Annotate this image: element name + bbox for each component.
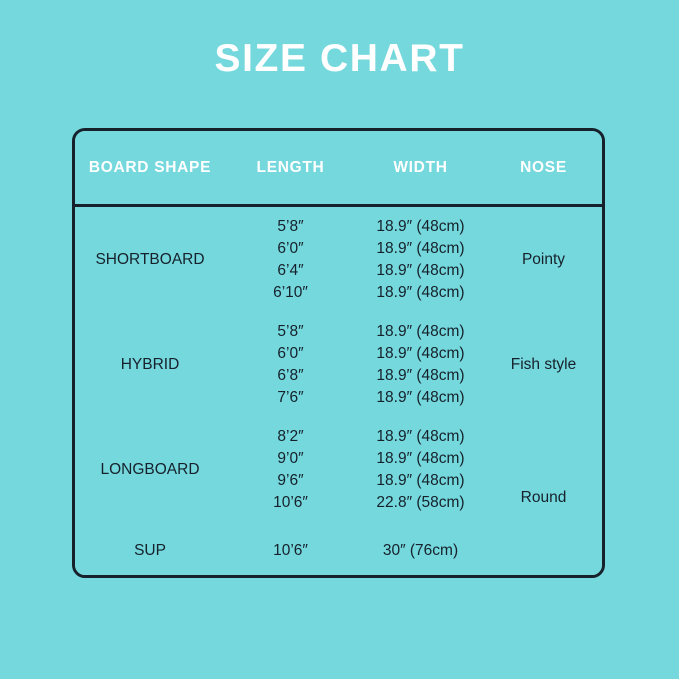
cell-board-shape: HYBRID (75, 312, 225, 417)
table-header-row: BOARD SHAPE LENGTH WIDTH NOSE (75, 131, 602, 206)
column-header-board-shape: BOARD SHAPE (75, 131, 225, 206)
cell-board-shape: SHORTBOARD (75, 206, 225, 313)
length-value: 10’6″ (225, 492, 356, 514)
width-value: 18.9″ (48cm) (356, 343, 485, 365)
cell-width: 18.9″ (48cm) 18.9″ (48cm) 18.9″ (48cm) 1… (356, 312, 485, 417)
width-value: 18.9″ (48cm) (356, 260, 485, 282)
cell-length: 5’8″ 6’0″ 6’8″ 7’6″ (225, 312, 356, 417)
cell-width: 18.9″ (48cm) 18.9″ (48cm) 18.9″ (48cm) 1… (356, 206, 485, 313)
length-value: 6’4″ (225, 260, 356, 282)
length-value: 6’0″ (225, 238, 356, 260)
cell-nose: Pointy (485, 206, 602, 313)
cell-width: 18.9″ (48cm) 18.9″ (48cm) 18.9″ (48cm) 2… (356, 417, 485, 522)
length-value: 7’6″ (225, 387, 356, 409)
width-value: 18.9″ (48cm) (356, 216, 485, 238)
size-chart-page: SIZE CHART BOARD SHAPE LENGTH WIDTH NOSE (0, 0, 679, 679)
table-row: SHORTBOARD 5’8″ 6’0″ 6’4″ 6’10″ 18.9″ (4… (75, 206, 602, 313)
width-value: 30″ (76cm) (356, 542, 485, 560)
size-chart-table: BOARD SHAPE LENGTH WIDTH NOSE SHORTBOARD… (75, 131, 602, 578)
width-value: 18.9″ (48cm) (356, 365, 485, 387)
cell-length: 5’8″ 6’0″ 6’4″ 6’10″ (225, 206, 356, 313)
width-value: 18.9″ (48cm) (356, 238, 485, 260)
cell-width: 30″ (76cm) (356, 522, 485, 578)
length-value: 8’2″ (225, 426, 356, 448)
length-value: 5’8″ (225, 321, 356, 343)
width-value: 18.9″ (48cm) (356, 387, 485, 409)
size-chart-table-container: BOARD SHAPE LENGTH WIDTH NOSE SHORTBOARD… (72, 128, 605, 578)
length-value: 5’8″ (225, 216, 356, 238)
cell-nose-merged: Round (485, 417, 602, 578)
width-value: 18.9″ (48cm) (356, 321, 485, 343)
cell-length: 10’6″ (225, 522, 356, 578)
cell-length: 8’2″ 9’0″ 9’6″ 10’6″ (225, 417, 356, 522)
width-value: 18.9″ (48cm) (356, 448, 485, 470)
length-value: 6’8″ (225, 365, 356, 387)
column-header-width: WIDTH (356, 131, 485, 206)
cell-board-shape: LONGBOARD (75, 417, 225, 522)
length-value: 9’0″ (225, 448, 356, 470)
length-value: 6’10″ (225, 282, 356, 304)
width-value: 18.9″ (48cm) (356, 426, 485, 448)
length-value: 10’6″ (225, 542, 356, 560)
cell-nose: Fish style (485, 312, 602, 417)
table-row: HYBRID 5’8″ 6’0″ 6’8″ 7’6″ 18.9″ (48cm) … (75, 312, 602, 417)
width-value: 18.9″ (48cm) (356, 282, 485, 304)
width-value: 18.9″ (48cm) (356, 470, 485, 492)
cell-board-shape: SUP (75, 522, 225, 578)
table-row: LONGBOARD 8’2″ 9’0″ 9’6″ 10’6″ 18.9″ (48… (75, 417, 602, 522)
width-value: 22.8″ (58cm) (356, 492, 485, 514)
length-value: 6’0″ (225, 343, 356, 365)
column-header-nose: NOSE (485, 131, 602, 206)
page-title: SIZE CHART (0, 36, 679, 82)
length-value: 9’6″ (225, 470, 356, 492)
column-header-length: LENGTH (225, 131, 356, 206)
